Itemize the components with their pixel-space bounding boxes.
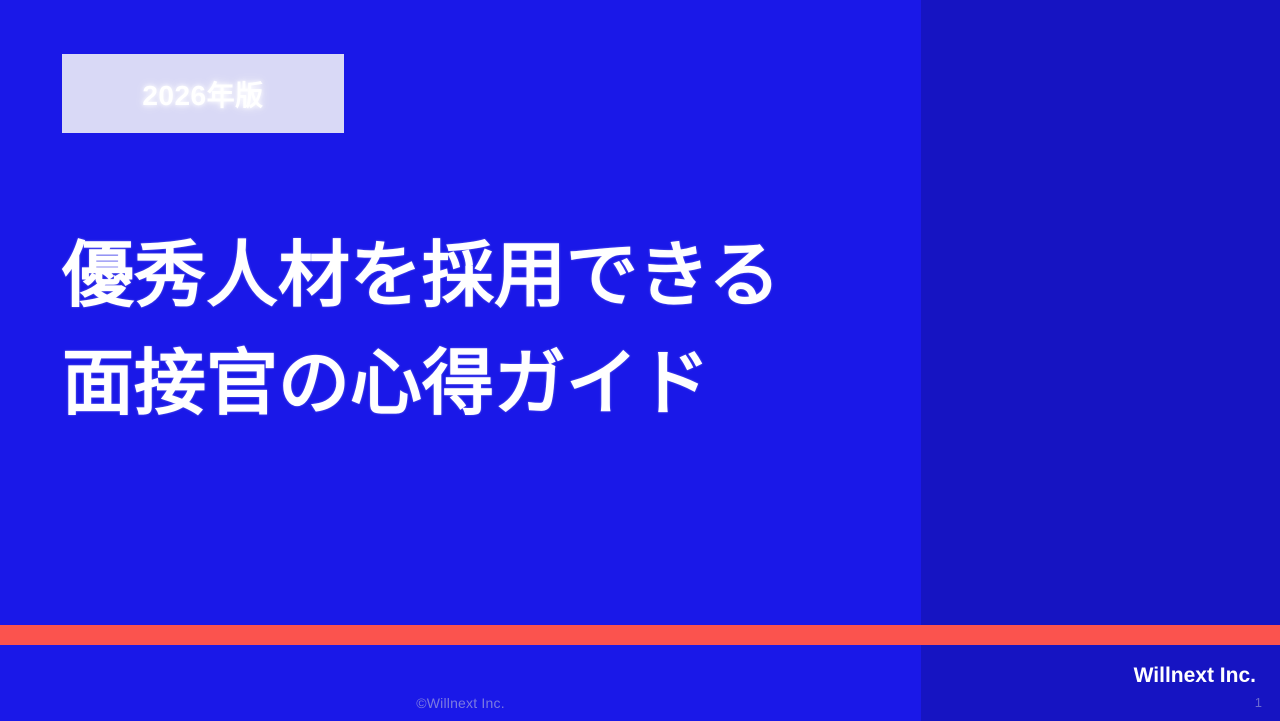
page-title-line-1: 優秀人材を採用できる bbox=[62, 222, 882, 330]
footer-right: Willnext Inc. 1 bbox=[921, 645, 1280, 721]
footer-left: ©Willnext Inc. bbox=[0, 645, 921, 721]
title-slide: 2026年版 優秀人材を採用できる 面接官の心得ガイド ©Willnext In… bbox=[0, 0, 1280, 721]
brand-name: Willnext Inc. bbox=[1134, 664, 1256, 688]
page-title: 優秀人材を採用できる 面接官の心得ガイド bbox=[62, 222, 882, 438]
slide-background-right-panel bbox=[921, 0, 1280, 721]
footer-copyright: ©Willnext Inc. bbox=[416, 695, 505, 711]
year-badge: 2026年版 bbox=[62, 54, 344, 133]
page-number: 1 bbox=[1255, 695, 1262, 710]
accent-divider-bar bbox=[0, 625, 1280, 645]
year-badge-label: 2026年版 bbox=[142, 74, 263, 114]
page-title-line-2: 面接官の心得ガイド bbox=[62, 330, 882, 438]
